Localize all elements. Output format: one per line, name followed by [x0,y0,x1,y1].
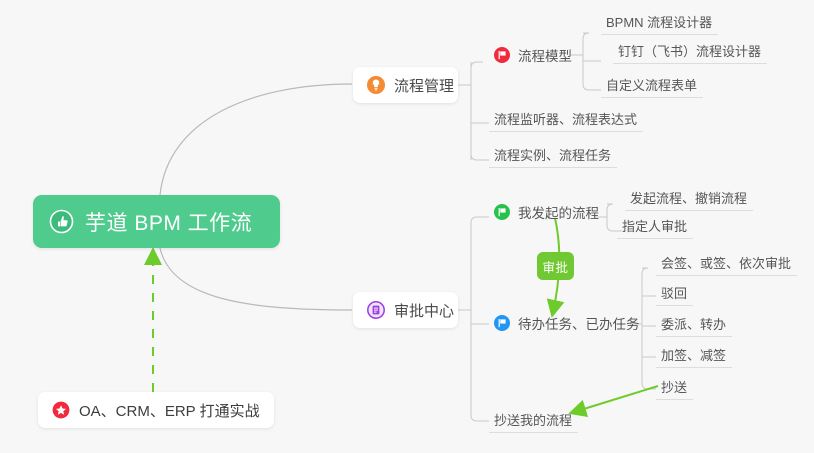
root-node[interactable]: 芋道 BPM 工作流 [33,195,280,248]
flag-green-icon [494,204,510,220]
lightbulb-icon [367,76,385,94]
integration-note-label: OA、CRM、ERP 打通实战 [79,400,260,421]
topic-todo-done-tasks[interactable]: 待办任务、已办任务 [494,311,640,335]
integration-note-node[interactable]: OA、CRM、ERP 打通实战 [38,392,274,428]
leaf-label: 指定人审批 [622,216,687,235]
approve-badge: 审批 [537,252,574,280]
leaf-add-remove-sign[interactable]: 加签、减签 [656,341,732,368]
topic-label: 待办任务、已办任务 [518,313,640,333]
leaf-label: 驳回 [661,283,687,302]
leaf-delegate-transfer[interactable]: 委派、转办 [656,310,732,337]
leaf-label: 流程监听器、流程表达式 [494,109,637,128]
leaf-label: 钉钉（飞书）流程设计器 [618,41,761,60]
leaf-label: 加签、减签 [661,345,726,364]
root-label: 芋道 BPM 工作流 [85,207,252,237]
leaf-label: 会签、或签、依次审批 [661,253,791,272]
leaf-dingtalk-designer[interactable]: 钉钉（飞书）流程设计器 [613,37,767,64]
leaf-label: 委派、转办 [661,314,726,333]
thumbs-up-icon [49,209,74,234]
leaf-bpmn-designer[interactable]: BPMN 流程设计器 [601,8,718,35]
branch-label: 审批中心 [394,300,454,321]
topic-label: 流程模型 [518,45,572,65]
topic-my-initiated[interactable]: 我发起的流程 [494,200,599,224]
leaf-reject[interactable]: 驳回 [656,279,693,306]
leaf-custom-form[interactable]: 自定义流程表单 [601,71,703,98]
mindmap-canvas: 芋道 BPM 工作流 流程管理 流程模型 BPMN 流程设计器 钉钉（飞书 [0,0,814,453]
leaf-label: BPMN 流程设计器 [606,12,712,31]
leaf-label: 发起流程、撤销流程 [630,188,747,207]
branch-process-management[interactable]: 流程管理 [353,67,458,103]
leaf-designated-approver[interactable]: 指定人审批 [617,212,693,239]
branch-approval-center[interactable]: 审批中心 [353,292,458,328]
leaf-start-cancel-process[interactable]: 发起流程、撤销流程 [625,184,753,211]
leaf-cc-to-me[interactable]: 抄送我的流程 [489,406,578,433]
leaf-label: 抄送我的流程 [494,410,572,429]
leaf-countersign[interactable]: 会签、或签、依次审批 [656,249,797,276]
flag-red-icon [494,47,510,63]
leaf-label: 自定义流程表单 [606,75,697,94]
approve-badge-label: 审批 [542,257,568,276]
cc-flow-arrow [574,386,658,412]
flag-blue-icon [494,315,510,331]
leaf-process-listener[interactable]: 流程监听器、流程表达式 [489,105,643,132]
leaf-cc[interactable]: 抄送 [656,373,693,400]
document-icon [367,301,385,319]
leaf-label: 抄送 [661,377,687,396]
star-icon [52,401,70,419]
branch-label: 流程管理 [394,75,454,96]
topic-label: 我发起的流程 [518,202,599,222]
leaf-label: 流程实例、流程任务 [494,145,611,164]
topic-process-model[interactable]: 流程模型 [494,43,572,67]
leaf-process-instance[interactable]: 流程实例、流程任务 [489,141,617,168]
